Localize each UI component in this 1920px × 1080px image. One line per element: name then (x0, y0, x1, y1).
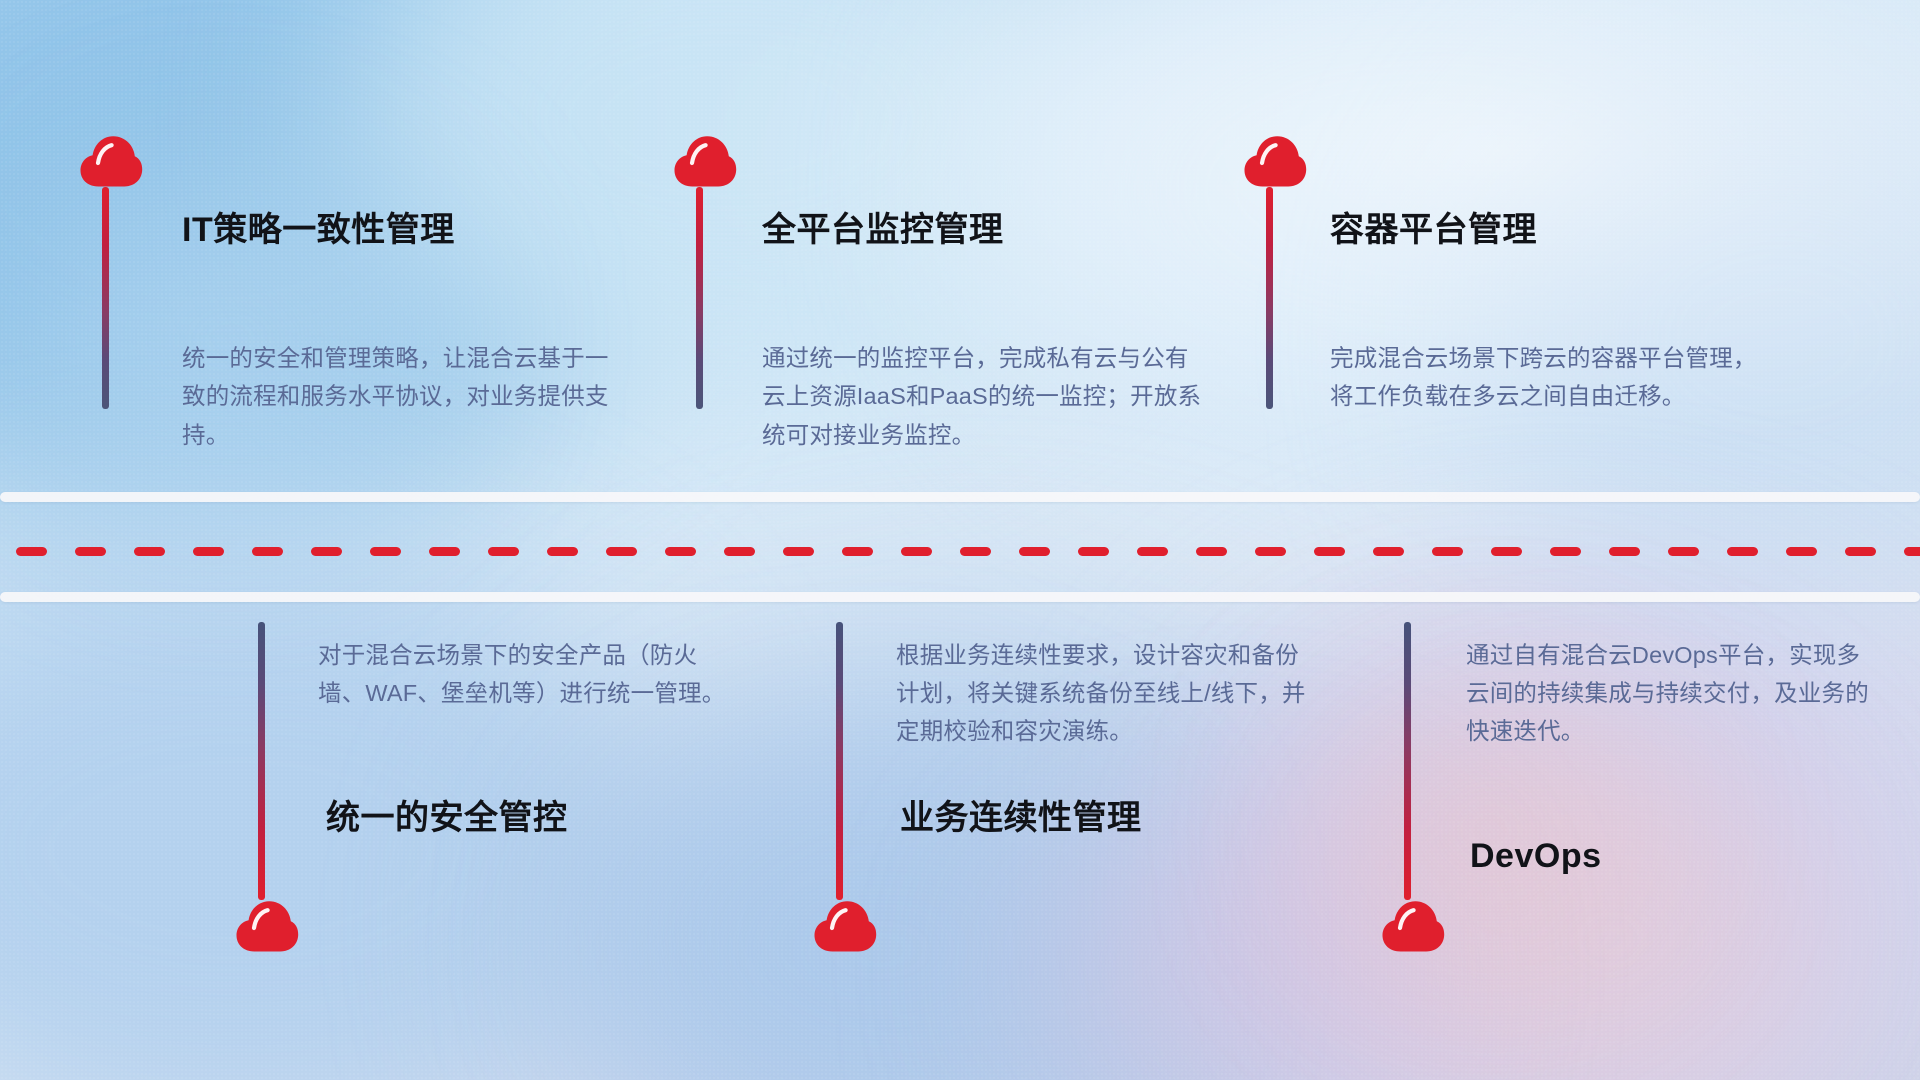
divider-dash (1137, 547, 1168, 556)
divider-dash (488, 547, 519, 556)
divider-dash (193, 547, 224, 556)
cloud-icon (672, 135, 738, 187)
divider-dash (1668, 547, 1699, 556)
card-container-platform[interactable]: 容器平台管理 完成混合云场景下跨云的容器平台管理，将工作负载在多云之间自由迁移。 (1330, 212, 1800, 416)
card-description: 对于混合云场景下的安全产品（防火墙、WAF、堡垒机等）进行统一管理。 (318, 636, 738, 712)
divider-dash (1373, 547, 1404, 556)
divider-dash (1491, 547, 1522, 556)
card-devops[interactable]: 通过自有混合云DevOps平台，实现多云间的持续集成与持续交付，及业务的快速迭代… (1466, 636, 1916, 876)
divider-dash (311, 547, 342, 556)
card-title: 统一的安全管控 (326, 800, 778, 837)
divider-dash (1255, 547, 1286, 556)
divider-dash (1432, 547, 1463, 556)
card-description: 通过统一的监控平台，完成私有云与公有云上资源IaaS和PaaS的统一监控；开放系… (762, 339, 1212, 453)
divider-dashed-line (0, 546, 1920, 556)
divider-dash (1314, 547, 1345, 556)
card-description: 通过自有混合云DevOps平台，实现多云间的持续集成与持续交付，及业务的快速迭代… (1466, 636, 1878, 750)
card-business-continuity[interactable]: 根据业务连续性要求，设计容灾和备份计划，将关键系统备份至线上/线下，并定期校验和… (896, 636, 1356, 838)
divider-dash (134, 547, 165, 556)
card-description: 根据业务连续性要求，设计容灾和备份计划，将关键系统备份至线上/线下，并定期校验和… (896, 636, 1320, 750)
divider-dash (1609, 547, 1640, 556)
divider-dash (1845, 547, 1876, 556)
divider-dash (1786, 547, 1817, 556)
card-unified-security-control[interactable]: 对于混合云场景下的安全产品（防火墙、WAF、堡垒机等）进行统一管理。 统一的安全… (318, 636, 778, 838)
divider-dash (252, 547, 283, 556)
cloud-icon (234, 900, 300, 952)
card-title: DevOps (1470, 838, 1916, 875)
pin-stem (258, 622, 265, 900)
cloud-icon (78, 135, 144, 187)
card-title: 全平台监控管理 (762, 212, 1242, 249)
card-description: 完成混合云场景下跨云的容器平台管理，将工作负载在多云之间自由迁移。 (1330, 339, 1760, 415)
divider-dash (783, 547, 814, 556)
pin-stem (696, 187, 703, 409)
divider-dash (75, 547, 106, 556)
divider-dash (16, 547, 47, 556)
divider-dash (1550, 547, 1581, 556)
divider-rule-top (0, 492, 1920, 502)
divider-dash (429, 547, 460, 556)
card-full-platform-monitoring[interactable]: 全平台监控管理 通过统一的监控平台，完成私有云与公有云上资源IaaS和PaaS的… (762, 212, 1242, 454)
divider-rule-bottom (0, 592, 1920, 602)
cloud-icon (1242, 135, 1308, 187)
divider-dash (1904, 547, 1920, 556)
card-title: 容器平台管理 (1330, 212, 1800, 249)
divider-dash (606, 547, 637, 556)
divider-dash (1727, 547, 1758, 556)
timeline-divider (0, 480, 1920, 610)
pin-stem (1404, 622, 1411, 900)
divider-dash (1019, 547, 1050, 556)
pin-stem (1266, 187, 1273, 409)
card-title: IT策略一致性管理 (182, 212, 652, 249)
divider-dash (901, 547, 932, 556)
cloud-icon (1380, 900, 1446, 952)
divider-dash (842, 547, 873, 556)
pin-stem (102, 187, 109, 409)
divider-dash (1078, 547, 1109, 556)
divider-dash (547, 547, 578, 556)
divider-dash (960, 547, 991, 556)
pin-stem (836, 622, 843, 900)
divider-dash (665, 547, 696, 556)
divider-dash (724, 547, 755, 556)
card-it-policy-consistency[interactable]: IT策略一致性管理 统一的安全和管理策略，让混合云基于一致的流程和服务水平协议，… (182, 212, 652, 454)
divider-dash (1196, 547, 1227, 556)
card-title: 业务连续性管理 (900, 800, 1356, 837)
card-description: 统一的安全和管理策略，让混合云基于一致的流程和服务水平协议，对业务提供支持。 (182, 339, 614, 453)
divider-dash (370, 547, 401, 556)
cloud-icon (812, 900, 878, 952)
